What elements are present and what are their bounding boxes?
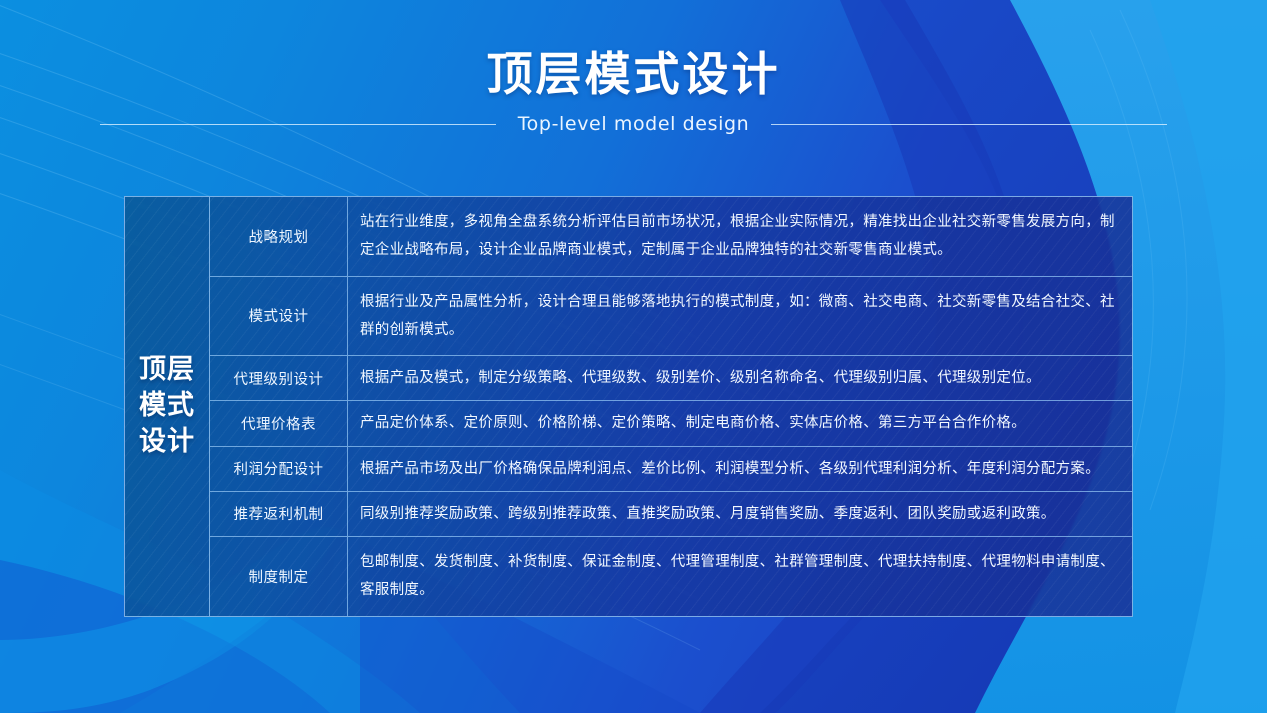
table-row: 模式设计 根据行业及产品属性分析，设计合理且能够落地执行的模式制度，如：微商、社… xyxy=(210,277,1132,357)
page-subtitle: Top-level model design xyxy=(496,113,772,135)
table-row-header-text: 顶层 模式 设计 xyxy=(139,352,195,460)
page-title: 顶层模式设计 xyxy=(0,48,1267,100)
table-row: 代理价格表 产品定价体系、定价原则、价格阶梯、定价策略、制定电商价格、实体店价格… xyxy=(210,401,1132,446)
table-row-label: 战略规划 xyxy=(210,197,348,276)
table-row-label: 代理级别设计 xyxy=(210,356,348,400)
row-header-line-2: 模式 xyxy=(139,388,195,424)
slide-canvas: 顶层模式设计 Top-level model design 顶层 模式 设计 战… xyxy=(0,0,1267,713)
table-row-label: 代理价格表 xyxy=(210,401,348,445)
table-row-content: 根据行业及产品属性分析，设计合理且能够落地执行的模式制度，如：微商、社交电商、社… xyxy=(348,277,1132,356)
table-row: 战略规划 站在行业维度，多视角全盘系统分析评估目前市场状况，根据企业实际情况，精… xyxy=(210,197,1132,277)
table-row-label: 利润分配设计 xyxy=(210,447,348,491)
table-row-label: 制度制定 xyxy=(210,537,348,616)
table-row-content: 根据产品市场及出厂价格确保品牌利润点、差价比例、利润模型分析、各级别代理利润分析… xyxy=(348,447,1132,491)
divider-line-right xyxy=(771,124,1167,125)
divider-line-left xyxy=(100,124,496,125)
title-block: 顶层模式设计 Top-level model design xyxy=(0,48,1267,137)
subtitle-row: Top-level model design xyxy=(0,111,1267,137)
table-row-label: 模式设计 xyxy=(210,277,348,356)
row-header-line-3: 设计 xyxy=(139,424,195,460)
table-row-content: 产品定价体系、定价原则、价格阶梯、定价策略、制定电商价格、实体店价格、第三方平台… xyxy=(348,401,1132,445)
table-row-content: 同级别推荐奖励政策、跨级别推荐政策、直推奖励政策、月度销售奖励、季度返利、团队奖… xyxy=(348,492,1132,536)
content-table: 顶层 模式 设计 战略规划 站在行业维度，多视角全盘系统分析评估目前市场状况，根… xyxy=(124,196,1133,617)
table-row: 利润分配设计 根据产品市场及出厂价格确保品牌利润点、差价比例、利润模型分析、各级… xyxy=(210,447,1132,492)
table-row-content: 根据产品及模式，制定分级策略、代理级数、级别差价、级别名称命名、代理级别归属、代… xyxy=(348,356,1132,400)
table-row: 推荐返利机制 同级别推荐奖励政策、跨级别推荐政策、直推奖励政策、月度销售奖励、季… xyxy=(210,492,1132,537)
table-row: 制度制定 包邮制度、发货制度、补货制度、保证金制度、代理管理制度、社群管理制度、… xyxy=(210,537,1132,616)
row-header-line-1: 顶层 xyxy=(139,352,195,388)
table-row-content: 包邮制度、发货制度、补货制度、保证金制度、代理管理制度、社群管理制度、代理扶持制… xyxy=(348,537,1132,616)
table-row-content: 站在行业维度，多视角全盘系统分析评估目前市场状况，根据企业实际情况，精准找出企业… xyxy=(348,197,1132,276)
table-rows: 战略规划 站在行业维度，多视角全盘系统分析评估目前市场状况，根据企业实际情况，精… xyxy=(210,197,1132,616)
table-row-label: 推荐返利机制 xyxy=(210,492,348,536)
table-row-header: 顶层 模式 设计 xyxy=(125,197,210,616)
table-row: 代理级别设计 根据产品及模式，制定分级策略、代理级数、级别差价、级别名称命名、代… xyxy=(210,356,1132,401)
